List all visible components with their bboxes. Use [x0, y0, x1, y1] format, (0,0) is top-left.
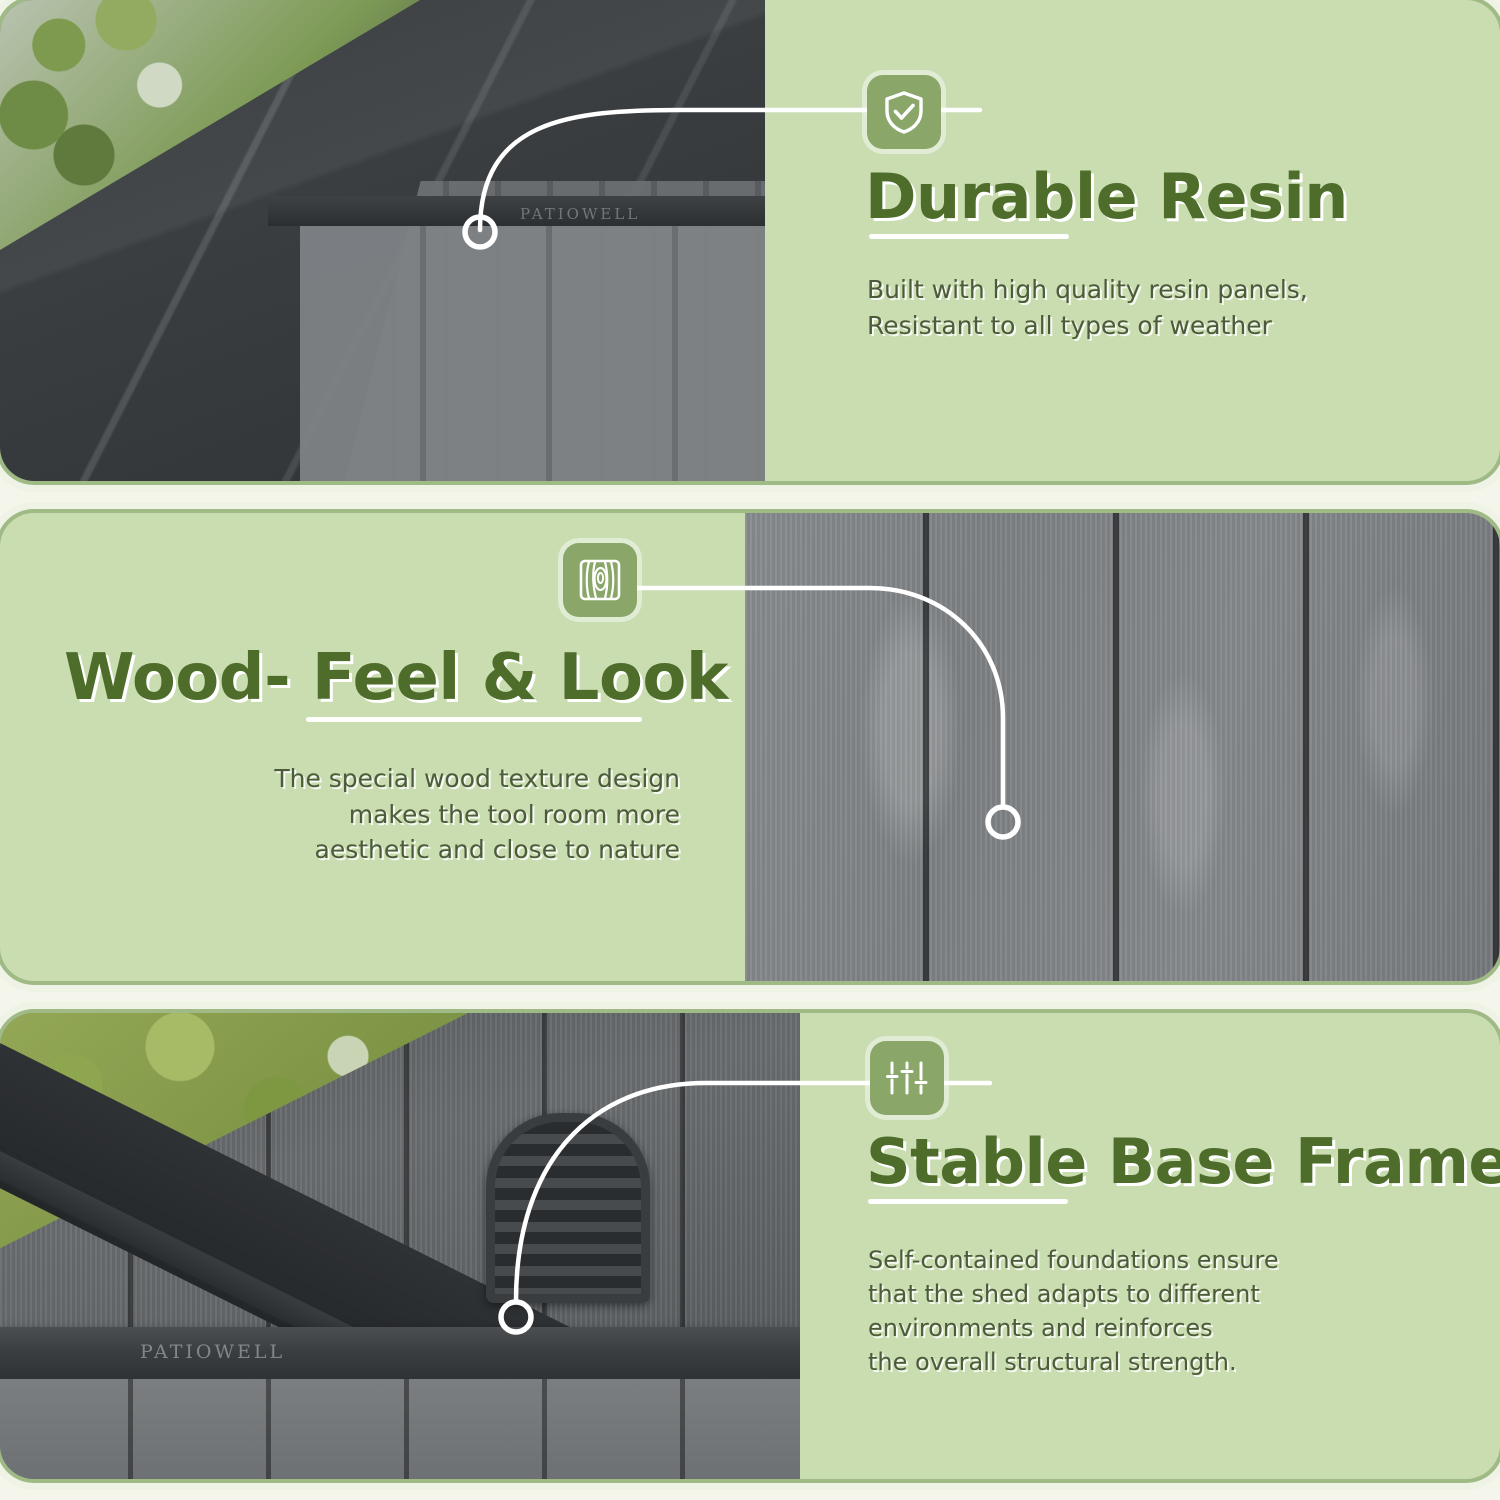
- feature-panel-durable-resin: PATIOWELL Durable Resin Built with high …: [0, 0, 1500, 481]
- photo-art-gable: PATIOWELL: [0, 1013, 800, 1479]
- panel-heading-wood-feel-and-look: Wood- Feel & Look: [64, 641, 728, 715]
- sliders-frame-icon: [870, 1041, 944, 1115]
- panel-body-stable-base-frame: Self-contained foundations ensure that t…: [868, 1243, 1279, 1379]
- photo-embossed-logo-3: PATIOWELL: [140, 1341, 285, 1363]
- panel-heading-stable-base-frame: Stable Base Frame: [866, 1125, 1500, 1198]
- feature-text-wood-feel-and-look: Wood- Feel & Look The special wood textu…: [0, 513, 745, 981]
- heading-underline-3: [868, 1199, 1068, 1204]
- panel-heading-durable-resin: Durable Resin: [865, 160, 1348, 233]
- heading-underline-1: [869, 234, 1069, 239]
- photo-art-wood-grain: [745, 513, 1500, 981]
- photo-art-lower-siding: [0, 1379, 800, 1479]
- feature-panel-wood-feel-and-look: Wood- Feel & Look The special wood textu…: [0, 513, 1500, 981]
- photo-embossed-logo: PATIOWELL: [520, 205, 640, 223]
- photo-art-vent: [486, 1113, 650, 1303]
- panel-body-wood-feel-and-look: The special wood texture design makes th…: [0, 761, 680, 868]
- photo-art-siding: [300, 200, 765, 481]
- feature-panel-stable-base-frame: PATIOWELL: [0, 1013, 1500, 1479]
- product-photo-shed-roof: PATIOWELL: [0, 0, 765, 481]
- feature-text-durable-resin: Durable Resin Built with high quality re…: [765, 0, 1500, 481]
- wood-grain-icon: [563, 543, 637, 617]
- product-photo-wood-texture: [745, 513, 1500, 981]
- shield-check-icon: [867, 75, 941, 149]
- panel-body-durable-resin: Built with high quality resin panels, Re…: [867, 272, 1308, 343]
- heading-underline-2: [306, 717, 642, 722]
- product-photo-gable-vent: PATIOWELL: [0, 1013, 800, 1479]
- feature-text-stable-base-frame: Stable Base Frame Self-contained foundat…: [800, 1013, 1500, 1479]
- photo-art-trim: [268, 196, 765, 226]
- infographic-stage: PATIOWELL Durable Resin Built with high …: [0, 0, 1500, 1500]
- photo-art-base-rail: PATIOWELL: [0, 1327, 800, 1383]
